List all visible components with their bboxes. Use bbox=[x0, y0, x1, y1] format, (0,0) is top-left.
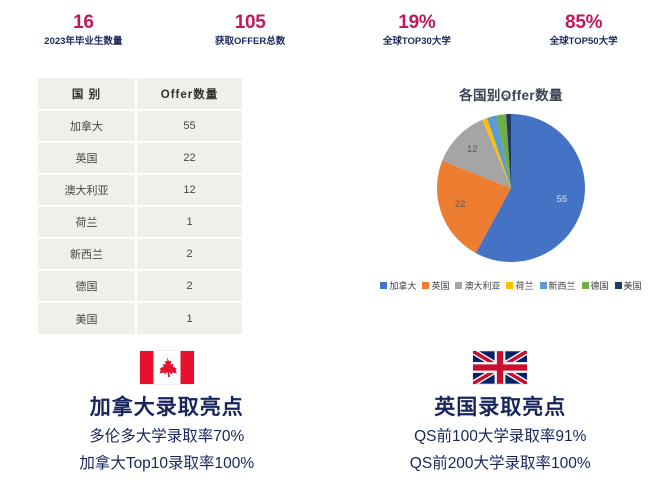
uk-flag-icon bbox=[473, 351, 527, 384]
cell-count: 2 bbox=[136, 238, 242, 270]
highlight-title: 英国录取亮点 bbox=[334, 394, 667, 422]
legend-label: 澳大利亚 bbox=[464, 279, 500, 292]
kpi-value: 16 bbox=[0, 12, 167, 34]
kpi-value: 105 bbox=[167, 12, 334, 34]
pie-label-newzealand: 2 bbox=[489, 93, 494, 104]
cell-country: 澳大利亚 bbox=[38, 174, 136, 206]
cell-country: 德国 bbox=[38, 270, 136, 302]
kpi-value: 85% bbox=[500, 12, 667, 34]
pie-label-netherlands: 1 bbox=[479, 93, 484, 104]
legend-swatch-icon bbox=[540, 282, 547, 289]
cell-country: 美国 bbox=[38, 302, 136, 334]
table-row: 澳大利亚 12 bbox=[38, 174, 242, 206]
table-row: 美国 1 bbox=[38, 302, 242, 334]
uk-flag-wrap bbox=[334, 348, 667, 386]
cell-count: 12 bbox=[136, 174, 242, 206]
kpi-top50: 85% 全球TOP50大学 bbox=[500, 8, 667, 58]
kpi-value: 19% bbox=[334, 12, 501, 34]
legend-swatch-icon bbox=[506, 282, 513, 289]
kpi-label: 全球TOP50大学 bbox=[500, 35, 667, 49]
offer-count-table: 国 别 Offer数量 加拿大 55 英国 22 澳大利亚 12 荷兰 1 新西 bbox=[38, 78, 242, 334]
highlight-section: 加拿大录取亮点 多伦多大学录取率70% 加拿大Top10录取率100% 英国录取… bbox=[0, 348, 667, 497]
legend-label: 新西兰 bbox=[549, 279, 576, 292]
cell-country: 英国 bbox=[38, 142, 136, 174]
legend-swatch-icon bbox=[455, 282, 462, 289]
legend-item[interactable]: 新西兰 bbox=[540, 279, 576, 292]
legend-label: 加拿大 bbox=[389, 279, 416, 292]
highlight-line: QS前100大学录取率91% bbox=[334, 424, 667, 449]
highlight-line: 加拿大Top10录取率100% bbox=[0, 451, 334, 476]
report-page: 16 2023年毕业生数量 105 获取OFFER总数 19% 全球TOP30大… bbox=[0, 0, 667, 497]
cell-country: 加拿大 bbox=[38, 110, 136, 142]
pie-plot-area: 55 22 12 1 2 2 1 bbox=[355, 106, 667, 266]
legend-swatch-icon bbox=[615, 282, 622, 289]
cell-country: 荷兰 bbox=[38, 206, 136, 238]
pie-label-australia: 12 bbox=[467, 144, 478, 155]
highlight-canada: 加拿大录取亮点 多伦多大学录取率70% 加拿大Top10录取率100% bbox=[0, 348, 334, 497]
highlight-line: 多伦多大学录取率70% bbox=[0, 424, 334, 449]
kpi-label: 2023年毕业生数量 bbox=[0, 35, 167, 49]
table-header-country: 国 别 bbox=[38, 78, 136, 110]
cell-count: 2 bbox=[136, 270, 242, 302]
kpi-strip: 16 2023年毕业生数量 105 获取OFFER总数 19% 全球TOP30大… bbox=[0, 8, 667, 58]
table-row: 新西兰 2 bbox=[38, 238, 242, 270]
legend-label: 美国 bbox=[624, 279, 642, 292]
cell-count: 1 bbox=[136, 302, 242, 334]
legend-item[interactable]: 英国 bbox=[422, 279, 449, 292]
kpi-top30: 19% 全球TOP30大学 bbox=[334, 8, 501, 58]
pie-label-usa: 1 bbox=[511, 93, 516, 104]
table-header-row: 国 别 Offer数量 bbox=[38, 78, 242, 110]
kpi-label: 获取OFFER总数 bbox=[167, 35, 334, 49]
table-row: 德国 2 bbox=[38, 270, 242, 302]
legend-item[interactable]: 澳大利亚 bbox=[455, 279, 500, 292]
kpi-label: 全球TOP30大学 bbox=[334, 35, 501, 49]
canada-flag-wrap bbox=[0, 348, 334, 386]
legend-item[interactable]: 加拿大 bbox=[380, 279, 416, 292]
legend-swatch-icon bbox=[582, 282, 589, 289]
pie-label-uk: 22 bbox=[455, 199, 466, 210]
legend-item[interactable]: 荷兰 bbox=[506, 279, 533, 292]
pie-svg bbox=[423, 106, 599, 266]
table-header-count: Offer数量 bbox=[136, 78, 242, 110]
table-row: 加拿大 55 bbox=[38, 110, 242, 142]
legend-swatch-icon bbox=[380, 282, 387, 289]
highlight-title: 加拿大录取亮点 bbox=[0, 394, 334, 422]
highlight-line: QS前200大学录取率100% bbox=[334, 451, 667, 476]
cell-count: 22 bbox=[136, 142, 242, 174]
legend-item[interactable]: 德国 bbox=[582, 279, 609, 292]
legend-item[interactable]: 美国 bbox=[615, 279, 642, 292]
pie-label-germany: 2 bbox=[503, 93, 508, 104]
legend-label: 英国 bbox=[431, 279, 449, 292]
legend-label: 荷兰 bbox=[515, 279, 533, 292]
kpi-total-offers: 105 获取OFFER总数 bbox=[167, 8, 334, 58]
cell-count: 1 bbox=[136, 206, 242, 238]
table-row: 荷兰 1 bbox=[38, 206, 242, 238]
cell-country: 新西兰 bbox=[38, 238, 136, 270]
legend-swatch-icon bbox=[422, 282, 429, 289]
highlight-uk: 英国录取亮点 QS前100大学录取率91% QS前200大学录取率100% bbox=[334, 348, 667, 497]
kpi-graduates: 16 2023年毕业生数量 bbox=[0, 8, 167, 58]
legend-label: 德国 bbox=[591, 279, 609, 292]
canada-flag-icon bbox=[140, 351, 194, 384]
cell-count: 55 bbox=[136, 110, 242, 142]
table-row: 英国 22 bbox=[38, 142, 242, 174]
chart-legend: 加拿大英国澳大利亚荷兰新西兰德国美国 bbox=[355, 279, 667, 292]
offer-pie-chart: 各国别Offer数量 55 22 12 1 2 2 1 加拿大英国澳大利亚荷兰新… bbox=[355, 78, 667, 310]
pie-label-canada: 55 bbox=[557, 194, 568, 205]
